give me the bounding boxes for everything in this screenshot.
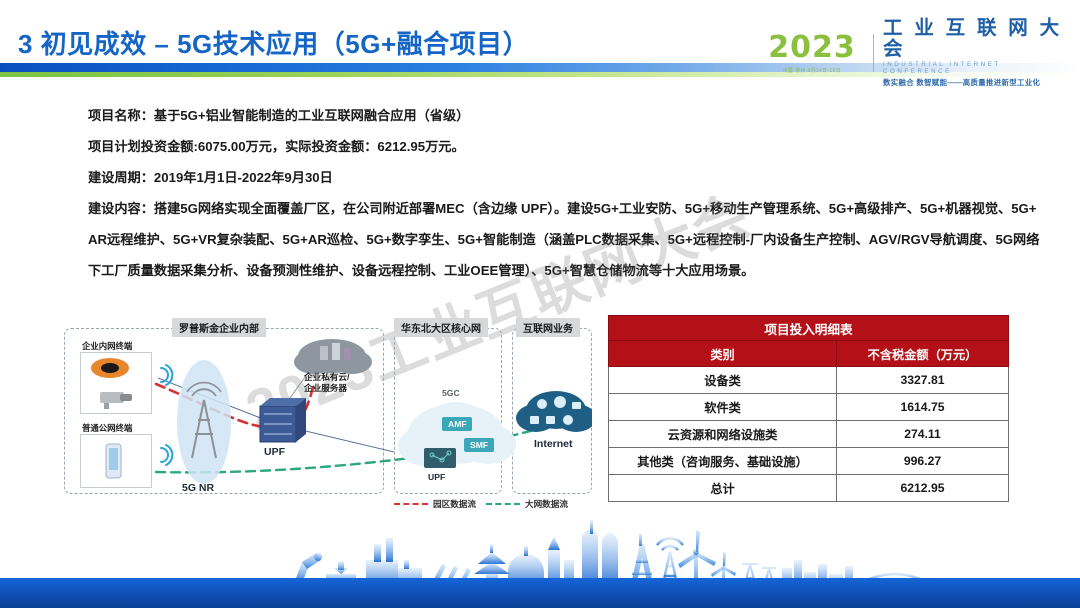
logo-slogan: 数实融合 数智赋能——高质量推进新型工业化 [883, 77, 1066, 88]
water-band [0, 578, 1080, 608]
private-cloud-shape [294, 339, 372, 374]
table-cell-amount: 1614.75 [837, 394, 1009, 421]
legend-dash-red-icon [394, 503, 428, 505]
logo-main-title: 工 业 互 联 网 大 会 [883, 18, 1066, 59]
legend-item-campus-flow: 园区数据流 [394, 498, 476, 510]
zone-label-core-network: 华东北大区核心网 [394, 318, 488, 337]
legend-label-wide-flow: 大网数据流 [525, 498, 568, 510]
table-cell-amount: 3327.81 [837, 367, 1009, 394]
slide-root: 3 初见成效 – 5G技术应用（5G+融合项目） 2023 中国·常州 9月14… [0, 0, 1080, 608]
logo-year-text: 2023 [760, 33, 864, 63]
investment-detail-table: 项目投入明细表 类别 不含税金额（万元） 设备类 3327.81 软件类 161… [608, 315, 1009, 502]
conference-logo: 2023 中国·常州 9月14日-16日 工 业 互 联 网 大 会 INDUS… [760, 26, 1066, 80]
logo-text-block: 工 业 互 联 网 大 会 INDUSTRIAL INTERNET CONFER… [883, 18, 1066, 88]
body-text-block: 项目名称：基于5G+铝业智能制造的工业互联网融合应用（省级） 项目计划投资金额:… [88, 100, 1048, 286]
table-row: 总计 6212.95 [609, 475, 1009, 502]
node-label-5g-nr: 5G NR [182, 482, 214, 494]
table-header-category: 类别 [609, 341, 837, 367]
node-label-private-cloud: 企业私有云/ 企业服务器 [304, 372, 349, 394]
table-header-amount: 不含税金额（万元） [837, 341, 1009, 367]
internet-cloud-shape [516, 391, 592, 432]
page-title: 3 初见成效 – 5G技术应用（5G+融合项目） [18, 24, 529, 61]
upf-server-shape [260, 398, 306, 442]
public-terminal-icon [80, 434, 152, 488]
zone-label-internet-service: 互联网业务 [516, 318, 580, 337]
para-investment: 项目计划投资金额:6075.00万元，实际投资金额：6212.95万元。 [88, 131, 1048, 162]
private-cloud-line1: 企业私有云/ [304, 372, 349, 382]
table-cell-category: 总计 [609, 475, 837, 502]
logo-divider [873, 34, 874, 72]
terminal-label-internal: 企业内网终端 [82, 340, 132, 352]
para-construction-content: 建设内容：搭建5G网络实现全面覆盖厂区，在公司附近部署MEC（含边缘 UPF）。… [88, 193, 1040, 286]
node-label-upf-enterprise: UPF [264, 446, 285, 458]
diagram-legend: 园区数据流 大网数据流 [394, 498, 568, 510]
node-label-smf: SMF [470, 440, 488, 450]
table-cell-amount: 6212.95 [837, 475, 1009, 502]
node-label-5gc: 5GC [442, 388, 460, 398]
table-cell-category: 其他类（咨询服务、基础设施） [609, 448, 837, 475]
legend-dash-green-icon [486, 503, 520, 505]
node-label-internet: Internet [534, 438, 573, 450]
para-project-name: 项目名称：基于5G+铝业智能制造的工业互联网融合应用（省级） [88, 100, 1048, 131]
logo-year-block: 2023 中国·常州 9月14日-16日 [760, 33, 864, 74]
table-title: 项目投入明细表 [609, 316, 1009, 341]
node-label-amf: AMF [448, 419, 467, 429]
table-cell-amount: 996.27 [837, 448, 1009, 475]
table-row: 软件类 1614.75 [609, 394, 1009, 421]
table-row: 设备类 3327.81 [609, 367, 1009, 394]
zone-label-enterprise-internal: 罗普斯金企业内部 [172, 318, 266, 337]
table-cell-category: 云资源和网络设施类 [609, 421, 837, 448]
para-period: 建设周期：2019年1月1日-2022年9月30日 [88, 162, 1048, 193]
5gc-cloud-shape [398, 402, 516, 468]
table-header-row: 类别 不含税金额（万元） [609, 341, 1009, 367]
logo-year-subtitle: 中国·常州 9月14日-16日 [760, 67, 864, 74]
table-row: 云资源和网络设施类 274.11 [609, 421, 1009, 448]
table-cell-category: 设备类 [609, 367, 837, 394]
table-cell-category: 软件类 [609, 394, 837, 421]
network-architecture-diagram: 罗普斯金企业内部 华东北大区核心网 互联网业务 企业内网终端 普通公网终端 5G… [64, 312, 592, 512]
private-cloud-line2: 企业服务器 [304, 383, 347, 393]
logo-english-title: INDUSTRIAL INTERNET CONFERENCE [883, 61, 1066, 75]
internal-terminal-icons [80, 352, 152, 414]
terminal-label-public: 普通公网终端 [82, 422, 132, 434]
node-label-upf-core: UPF [428, 472, 445, 482]
legend-label-campus-flow: 园区数据流 [433, 498, 476, 510]
table-title-row: 项目投入明细表 [609, 316, 1009, 341]
legend-item-wide-flow: 大网数据流 [486, 498, 568, 510]
table-cell-amount: 274.11 [837, 421, 1009, 448]
skyline-decoration [0, 516, 1080, 608]
table-row: 其他类（咨询服务、基础设施） 996.27 [609, 448, 1009, 475]
